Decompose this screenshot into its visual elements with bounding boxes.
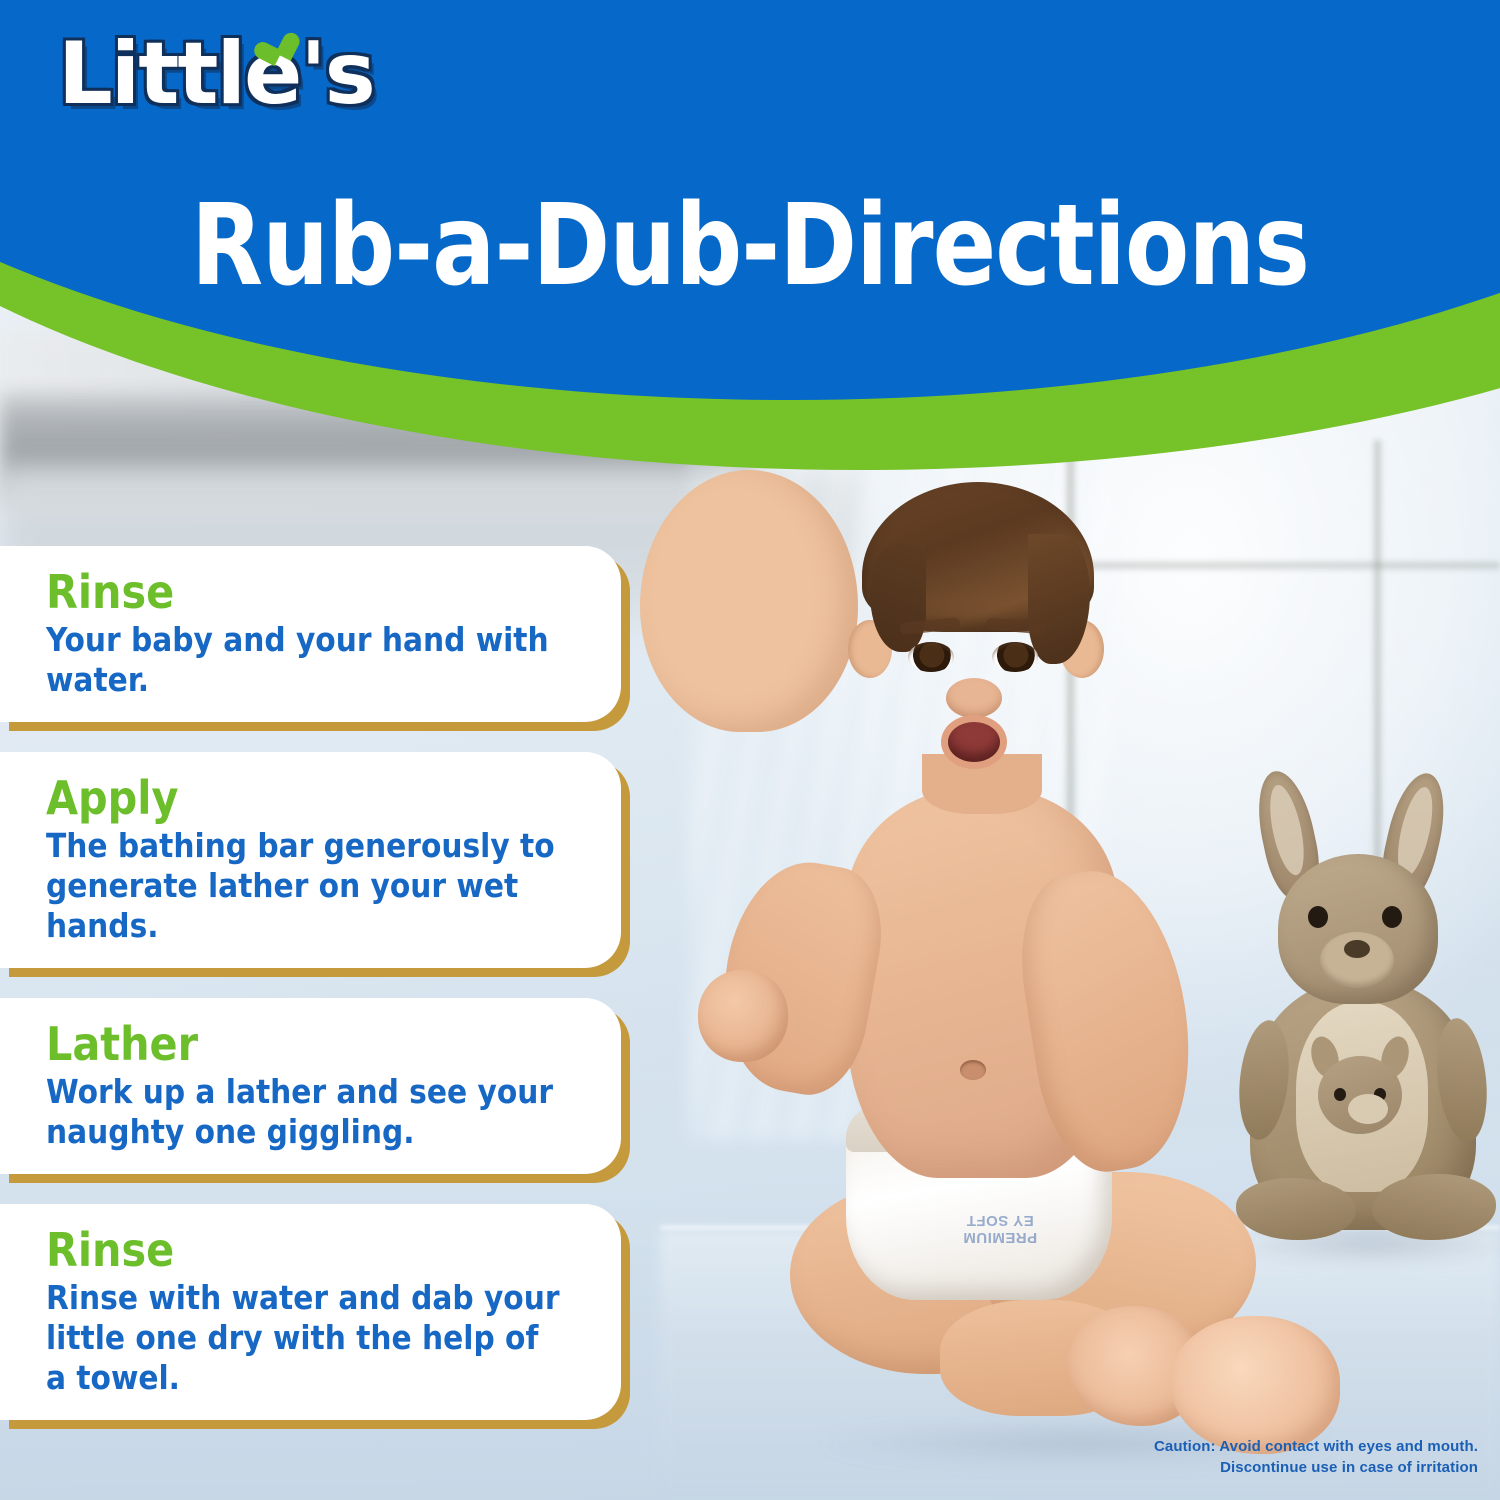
diaper-label-line2: EY SOFT bbox=[966, 1212, 1033, 1229]
baby-eye-right bbox=[992, 642, 1038, 672]
baby-mouth bbox=[948, 722, 1000, 762]
baby-neck bbox=[922, 754, 1042, 814]
page-title: Rub-a-Dub-Directions bbox=[53, 186, 1448, 306]
baby-head bbox=[640, 470, 858, 732]
joey-snout bbox=[1348, 1094, 1388, 1124]
step-card-3[interactable]: Lather Work up a lather and see your nau… bbox=[0, 998, 621, 1174]
list-item[interactable]: Apply The bathing bar generously to gene… bbox=[0, 752, 660, 968]
baby-eye-left bbox=[908, 642, 954, 672]
step-body: Rinse with water and dab your little one… bbox=[46, 1278, 561, 1398]
step-body: Your baby and your hand with water. bbox=[46, 620, 561, 700]
list-item[interactable]: Rinse Your baby and your hand with water… bbox=[0, 546, 660, 722]
step-card-1[interactable]: Rinse Your baby and your hand with water… bbox=[0, 546, 621, 722]
step-body: Work up a lather and see your naughty on… bbox=[46, 1072, 561, 1152]
baby-foot-right bbox=[1170, 1316, 1340, 1454]
kangaroo-foot-right bbox=[1372, 1174, 1496, 1240]
baby-hair bbox=[862, 482, 1094, 632]
step-title: Lather bbox=[46, 1018, 561, 1070]
list-item[interactable]: Rinse Rinse with water and dab your litt… bbox=[0, 1204, 660, 1420]
step-card-4[interactable]: Rinse Rinse with water and dab your litt… bbox=[0, 1204, 621, 1420]
kangaroo-nose bbox=[1344, 940, 1370, 958]
caution-line-2: Discontinue use in case of irritation bbox=[1154, 1457, 1478, 1478]
poster-canvas: PREMIUM EY SOFT Little's Rub-a-Dub-Direc… bbox=[0, 0, 1500, 1500]
step-card-2[interactable]: Apply The bathing bar generously to gene… bbox=[0, 752, 621, 968]
diaper-brand-label: PREMIUM EY SOFT bbox=[940, 1188, 1060, 1246]
brand-logo-text: Little's bbox=[58, 24, 374, 124]
brand-logo: Little's bbox=[58, 26, 374, 122]
baby-fist-left bbox=[698, 970, 788, 1062]
kangaroo-eye-right bbox=[1382, 906, 1402, 928]
baby-nose bbox=[946, 678, 1002, 718]
diaper-label-line1: PREMIUM bbox=[963, 1229, 1037, 1246]
step-title: Rinse bbox=[46, 566, 561, 618]
baby-photo-subject: PREMIUM EY SOFT bbox=[640, 470, 1340, 1470]
steps-list: Rinse Your baby and your hand with water… bbox=[0, 546, 660, 1450]
list-item[interactable]: Lather Work up a lather and see your nau… bbox=[0, 998, 660, 1174]
step-body: The bathing bar generously to generate l… bbox=[46, 826, 561, 946]
step-title: Rinse bbox=[46, 1224, 561, 1276]
baby-navel bbox=[960, 1060, 986, 1080]
step-title: Apply bbox=[46, 772, 561, 824]
caution-note: Caution: Avoid contact with eyes and mou… bbox=[1154, 1436, 1478, 1478]
caution-line-1: Caution: Avoid contact with eyes and mou… bbox=[1154, 1436, 1478, 1457]
